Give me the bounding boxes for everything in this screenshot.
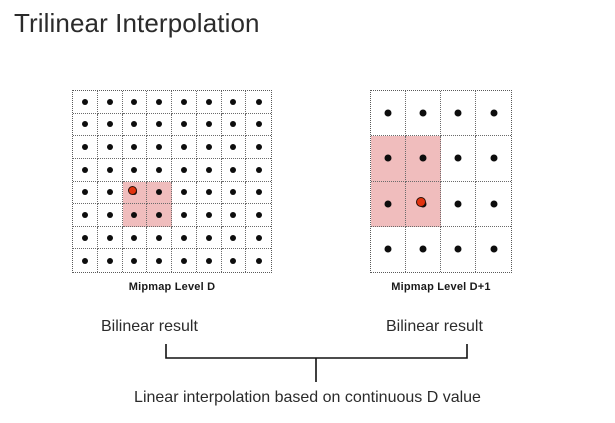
merge-bracket-path: [166, 344, 467, 382]
bottom-caption: Linear interpolation based on continuous…: [0, 389, 615, 407]
merge-bracket: [0, 0, 615, 423]
